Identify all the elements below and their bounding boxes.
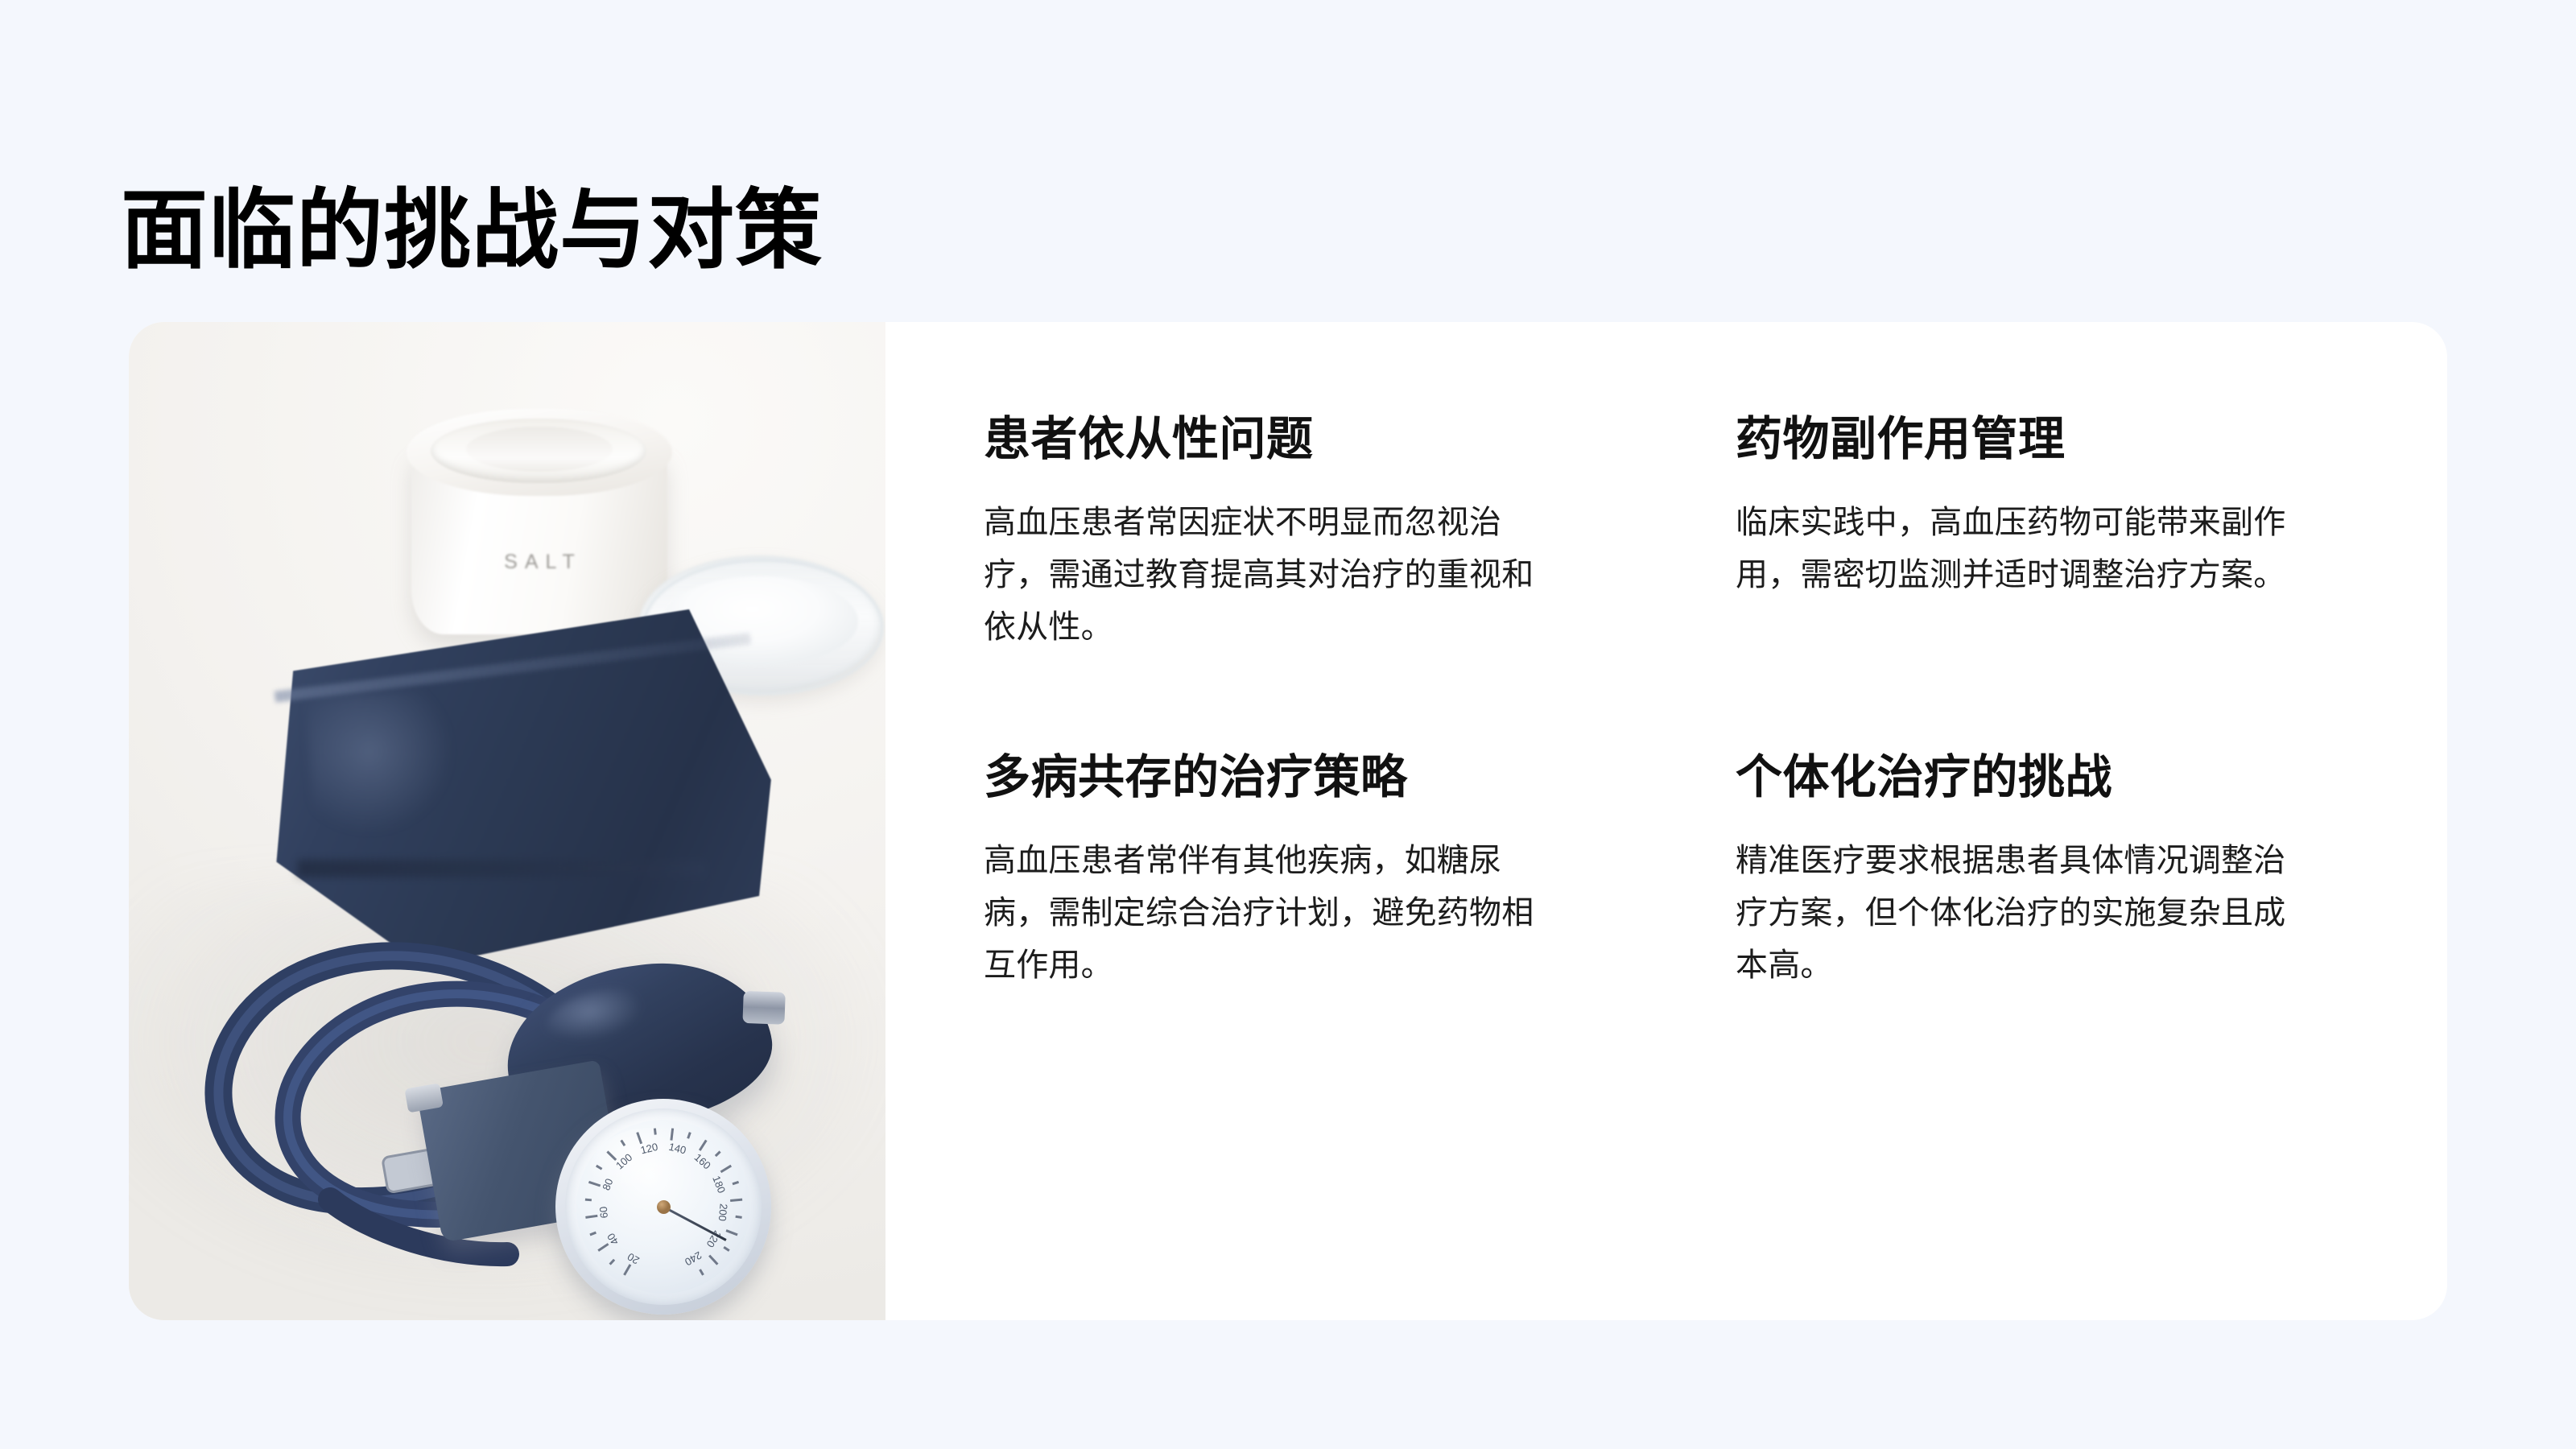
gauge-tick (584, 1199, 591, 1202)
bulb-valve (742, 991, 785, 1025)
content-card: SALT (129, 322, 2447, 1320)
gauge-tick (708, 1255, 718, 1265)
gauge-tick (597, 1243, 609, 1252)
gauge-number: 160 (691, 1150, 714, 1173)
challenge-card-4-body: 精准医疗要求根据患者具体情况调整治疗方案，但个体化治疗的实施复杂且成本高。 (1736, 835, 2299, 991)
gauge-number: 80 (598, 1172, 617, 1196)
gauge-tick (723, 1246, 729, 1252)
challenge-card-2-body: 临床实践中，高血压药物可能带来副作用，需密切监测并适时调整治疗方案。 (1736, 497, 2299, 601)
page-title: 面临的挑战与对策 (121, 179, 823, 281)
gauge-tick (725, 1229, 737, 1236)
gauge-number: 240 (681, 1249, 705, 1269)
gauge-tick (698, 1140, 707, 1151)
gauge-tick (714, 1150, 720, 1157)
challenge-card-4: 个体化治疗的挑战 精准医疗要求根据患者具体情况调整治疗方案，但个体化治疗的实施复… (1736, 747, 2299, 992)
text-pane: 患者依从性问题 高血压患者常因症状不明显而忽视治疗，需通过教育提高其对治疗的重视… (885, 322, 2447, 1320)
gauge-number: 100 (612, 1150, 635, 1173)
gauge-tick (620, 1140, 625, 1146)
gauge-number: 180 (709, 1172, 729, 1196)
challenge-cards-grid: 患者依从性问题 高血压患者常因症状不明显而忽视治疗，需通过教育提高其对治疗的重视… (984, 409, 2351, 992)
gauge-hub (657, 1200, 671, 1214)
gauge-tick (609, 1259, 615, 1265)
challenge-card-2-title: 药物副作用管理 (1736, 409, 2299, 469)
challenge-card-1-body: 高血压患者常因症状不明显而忽视治疗，需通过教育提高其对治疗的重视和依从性。 (984, 497, 1547, 653)
gauge-tick (653, 1128, 656, 1134)
gauge-tick (588, 1181, 600, 1187)
challenge-card-1: 患者依从性问题 高血压患者常因症状不明显而忽视治疗，需通过教育提高其对治疗的重视… (984, 409, 1547, 654)
gauge-tick (699, 1269, 704, 1275)
gauge-tick (585, 1215, 597, 1219)
gauge-tick (732, 1181, 739, 1185)
slide-root: 面临的挑战与对策 SALT (0, 0, 2576, 1449)
gauge-tick (735, 1216, 741, 1219)
gauge-number: 40 (602, 1227, 624, 1251)
gauge-tick (636, 1132, 642, 1144)
challenge-card-3-title: 多病共存的治疗策略 (984, 747, 1547, 807)
gauge-tick (720, 1165, 731, 1173)
gauge-tick (595, 1165, 601, 1170)
gauge-number: 140 (666, 1140, 689, 1157)
photo-pane: SALT (129, 322, 885, 1320)
gauge-tick (670, 1128, 674, 1140)
challenge-card-2: 药物副作用管理 临床实践中，高血压药物可能带来副作用，需密切监测并适时调整治疗方… (1736, 409, 2299, 654)
gauge-tick (623, 1264, 631, 1275)
gauge-tick (687, 1132, 691, 1139)
gauge-number: 20 (621, 1249, 646, 1269)
pressure-gauge: 20406080100120140160180200220240 (555, 1099, 771, 1315)
gauge-tick (606, 1150, 617, 1161)
gauge-tick (730, 1199, 742, 1202)
bulb-highlight (541, 980, 682, 1063)
gauge-number: 60 (597, 1201, 610, 1223)
challenge-card-4-title: 个体化治疗的挑战 (1736, 747, 2299, 807)
gauge-clip (404, 1083, 444, 1113)
gauge-number: 200 (716, 1201, 729, 1223)
challenge-card-1-title: 患者依从性问题 (984, 409, 1547, 469)
gauge-tick (589, 1232, 597, 1236)
challenge-card-3: 多病共存的治疗策略 高血压患者常伴有其他疾病，如糖尿病，需制定综合治疗计划，避免… (984, 747, 1547, 992)
challenge-card-3-body: 高血压患者常伴有其他疾病，如糖尿病，需制定综合治疗计划，避免药物相互作用。 (984, 835, 1547, 991)
